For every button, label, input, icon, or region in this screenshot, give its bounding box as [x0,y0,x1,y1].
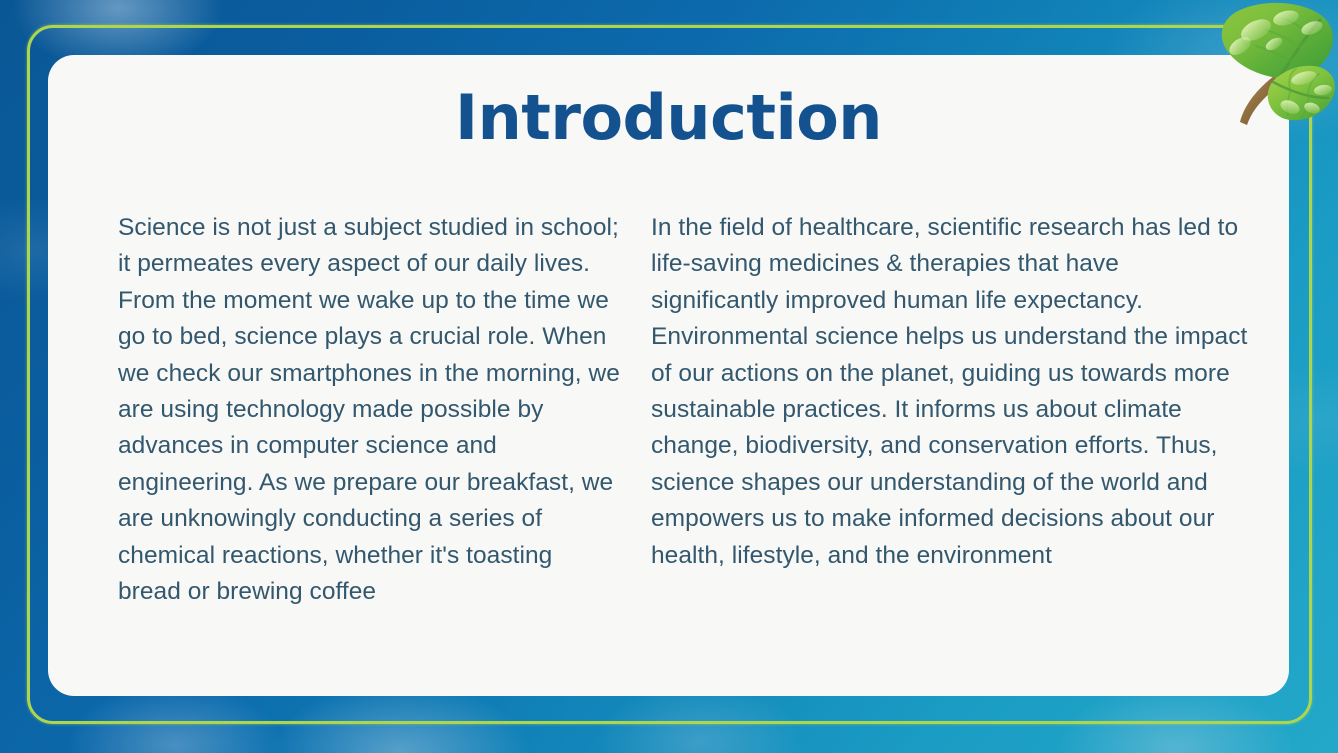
page-title: Introduction [48,87,1289,149]
text-columns: Science is not just a subject studied in… [48,210,1289,610]
body-paragraph-left: Science is not just a subject studied in… [48,210,640,610]
body-paragraph-right: In the field of healthcare, scientific r… [640,210,1289,610]
content-card: Introduction Science is not just a subje… [48,55,1289,696]
slide: Introduction Science is not just a subje… [0,0,1338,753]
